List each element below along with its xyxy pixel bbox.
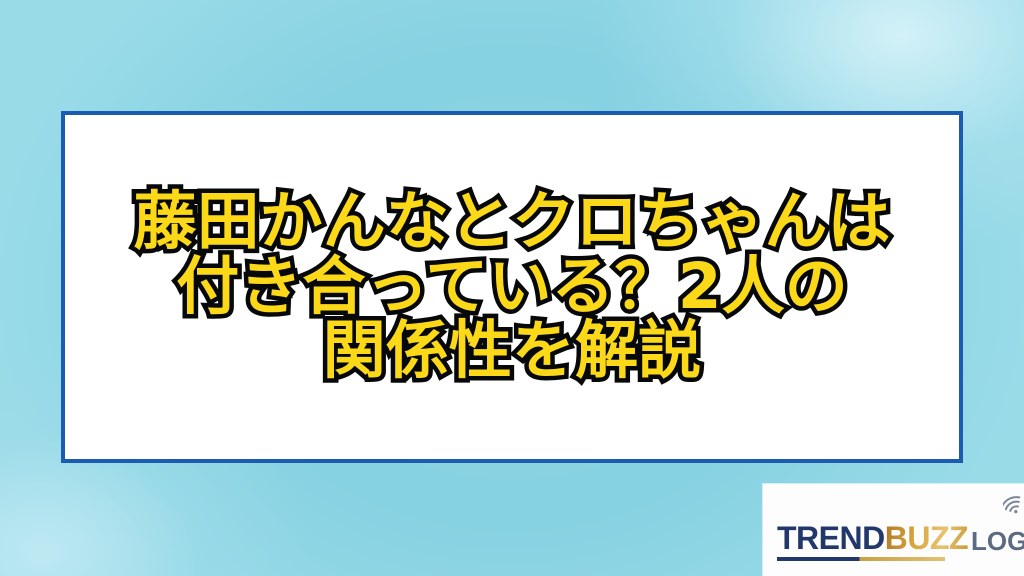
brand-lockup: TREND BUZZ LOG: [777, 506, 1024, 554]
brand-underline-rule: [777, 557, 945, 561]
wifi-signal-icon: [1003, 490, 1024, 514]
brand-word-trend: TREND: [777, 522, 885, 554]
brand-wordmark: TREND BUZZ LOG: [777, 522, 1024, 554]
headline-text-block: 藤田かんなとクロちゃんは 付き合っている？2人の 関係性を解説: [134, 189, 891, 384]
headline-line-2: 付き合っている？2人の: [134, 256, 891, 318]
brand-word-log: LOG: [971, 528, 1024, 554]
brand-word-buzz: BUZZ: [885, 522, 968, 554]
brand-logo-card[interactable]: TREND BUZZ LOG: [763, 484, 1024, 576]
title-card: 藤田かんなとクロちゃんは 付き合っている？2人の 関係性を解説: [61, 111, 963, 463]
headline-line-1: 藤田かんなとクロちゃんは: [134, 191, 891, 253]
headline-line-3: 関係性を解説: [134, 320, 891, 382]
thumbnail-canvas: 藤田かんなとクロちゃんは 付き合っている？2人の 関係性を解説 TREND BU…: [0, 0, 1024, 576]
